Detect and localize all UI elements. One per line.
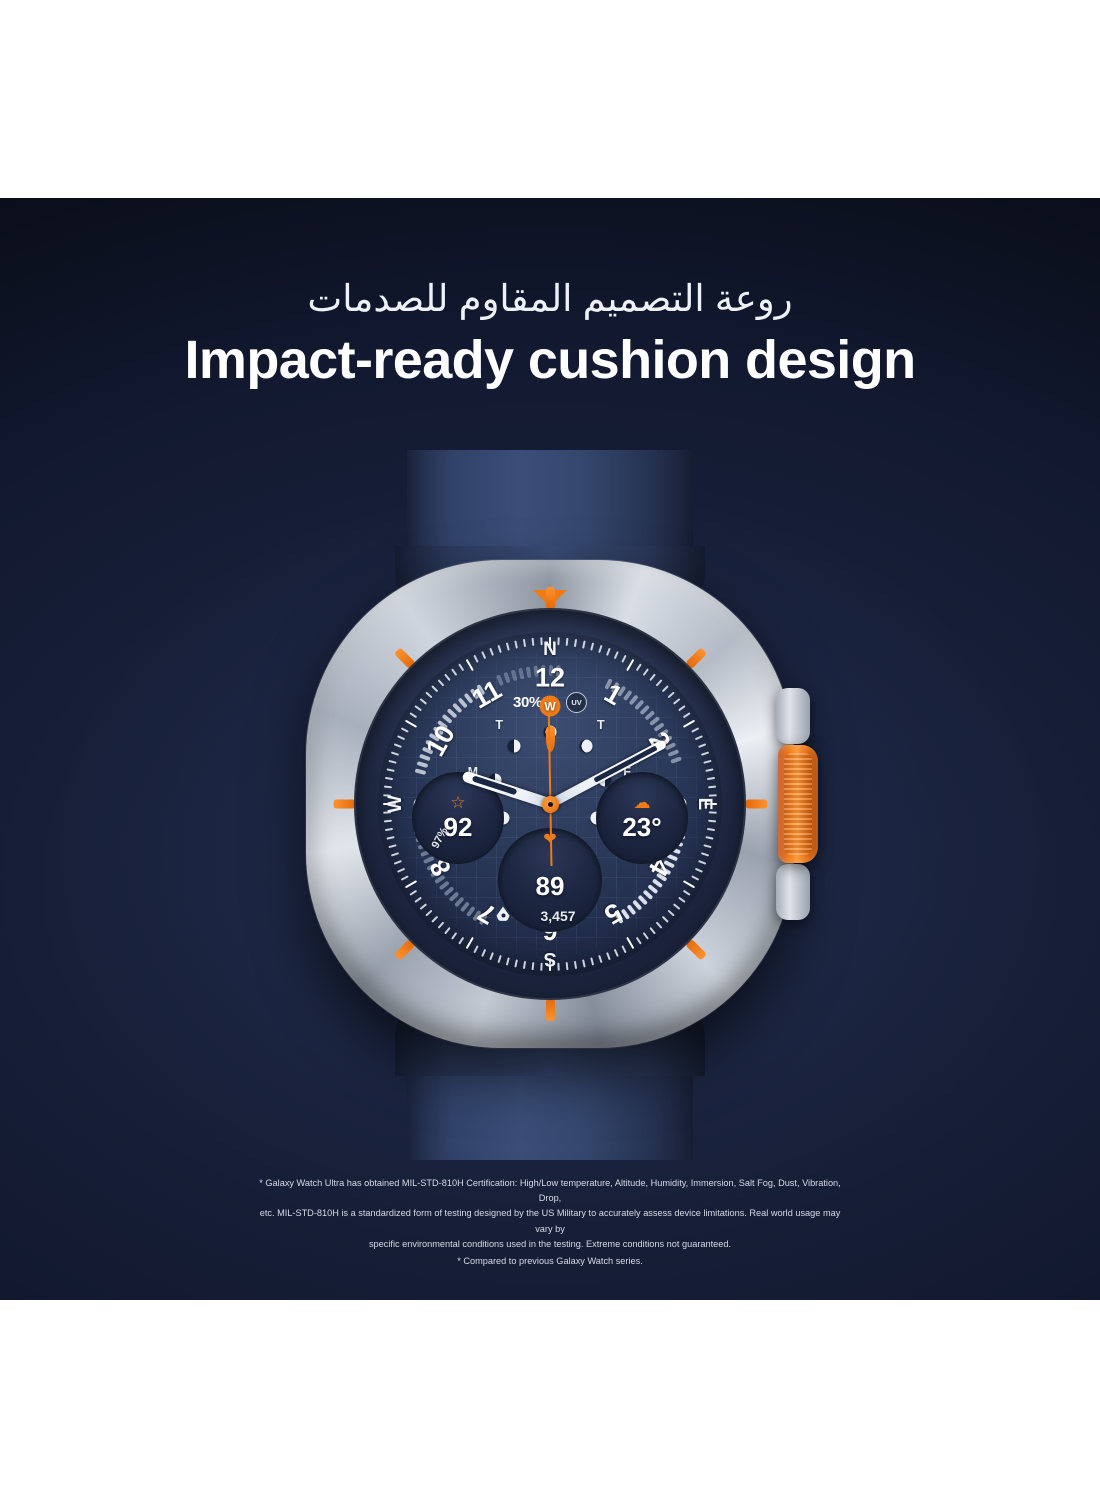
complication-right-weather[interactable]: ☁ 23° — [596, 772, 688, 864]
activity-person-icon: ☆ — [450, 794, 465, 811]
bezel-tick — [546, 999, 555, 1021]
side-guard-top — [776, 688, 810, 744]
footnote-line: * Galaxy Watch Ultra has obtained MIL-ST… — [250, 1176, 850, 1206]
footnote-line: specific environmental conditions used i… — [250, 1237, 850, 1252]
heading-arabic: روعة التصميم المقاوم للصدمات — [0, 276, 1100, 322]
heading-english: Impact-ready cushion design — [0, 331, 1100, 390]
promo-page: روعة التصميم المقاوم للصدمات Impact-read… — [0, 0, 1100, 1500]
footnote-line: etc. MIL-STD-810H is a standardized form… — [250, 1206, 850, 1236]
promo-panel: روعة التصميم المقاوم للصدمات Impact-read… — [0, 198, 1100, 1300]
weekday-2: T — [495, 718, 503, 732]
battery-percent: 30% — [513, 694, 542, 711]
complication-bottom-value: 89 — [536, 871, 565, 902]
complication-left-value: 92 — [444, 812, 473, 843]
orange-quick-button[interactable] — [778, 745, 818, 863]
hands-hub — [542, 796, 559, 813]
weekday-4: T — [597, 718, 605, 732]
heart-icon: ❤ — [542, 832, 559, 847]
galaxy-watch-ultra: 121234567891011 NESW 30% UV SMTWTFS ☆ 92… — [290, 454, 810, 1154]
weekday-3: W — [540, 696, 561, 717]
heading-block: روعة التصميم المقاوم للصدمات Impact-read… — [0, 276, 1100, 391]
weather-cloud-sun-icon: ☁ — [634, 794, 651, 811]
moon-phase-2 — [507, 739, 520, 752]
footnote-block: * Galaxy Watch Ultra has obtained MIL-ST… — [250, 1176, 850, 1269]
bezel-tick — [745, 800, 767, 809]
complication-right-value: 23° — [622, 812, 661, 843]
bezel-tick — [546, 587, 555, 609]
steps-label: 3,457 — [540, 908, 575, 924]
uv-badge: UV — [566, 692, 587, 713]
bezel-tick — [333, 800, 355, 809]
watch-dial[interactable]: 121234567891011 NESW 30% UV SMTWTFS ☆ 92… — [378, 632, 722, 976]
footnote-line: * Compared to previous Galaxy Watch seri… — [250, 1254, 850, 1269]
side-guard-bottom — [776, 864, 810, 920]
watch-case-titanium: 121234567891011 NESW 30% UV SMTWTFS ☆ 92… — [306, 560, 794, 1048]
moon-phase-4 — [580, 739, 593, 752]
